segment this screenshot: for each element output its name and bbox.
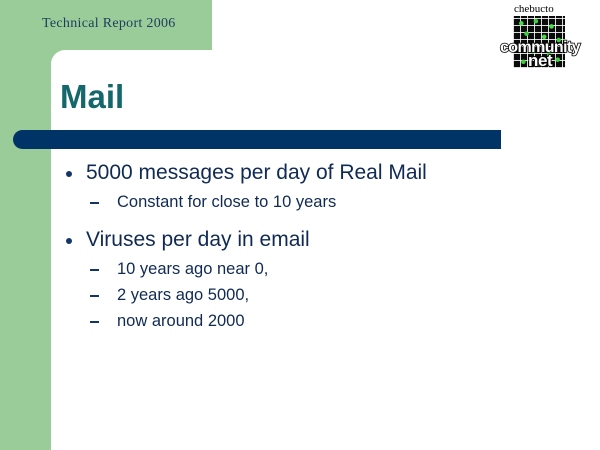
list-item-label: now around 2000 [117,312,245,330]
list-group-spacer [60,215,560,225]
list-item: Constant for close to 10 years [60,189,560,215]
bullet-dash-icon [90,321,99,323]
list-item-label: 2 years ago 5000, [117,286,249,304]
slide-body: 5000 messages per day of Real Mail Const… [60,158,560,334]
presentation-slide: Technical Report 2006 chebucto community… [0,0,600,450]
list-item: 5000 messages per day of Real Mail [60,158,560,188]
list-item-label: 10 years ago near 0, [117,260,268,278]
list-item-label: Viruses per day in email [86,228,310,251]
bullet-dash-icon [90,269,99,271]
bullet-dot-icon [66,171,72,177]
bullet-dot-icon [66,238,72,244]
chebucto-community-net-logo: chebucto community net [500,3,584,69]
list-item: Viruses per day in email [60,225,560,255]
list-item-label: 5000 messages per day of Real Mail [86,161,427,184]
list-item-label: Constant for close to 10 years [117,193,336,211]
logo-line-chebucto: chebucto [514,3,554,15]
green-sidebar-decoration [0,0,51,450]
report-label: Technical Report 2006 [42,16,176,32]
title-underline-bar [13,130,501,149]
bullet-dash-icon [90,202,99,204]
page-title: Mail [60,78,124,116]
list-item: now around 2000 [60,308,560,334]
logo-line-net: net [528,51,552,71]
list-item: 2 years ago 5000, [60,282,560,308]
list-item: 10 years ago near 0, [60,256,560,282]
bullet-dash-icon [90,295,99,297]
